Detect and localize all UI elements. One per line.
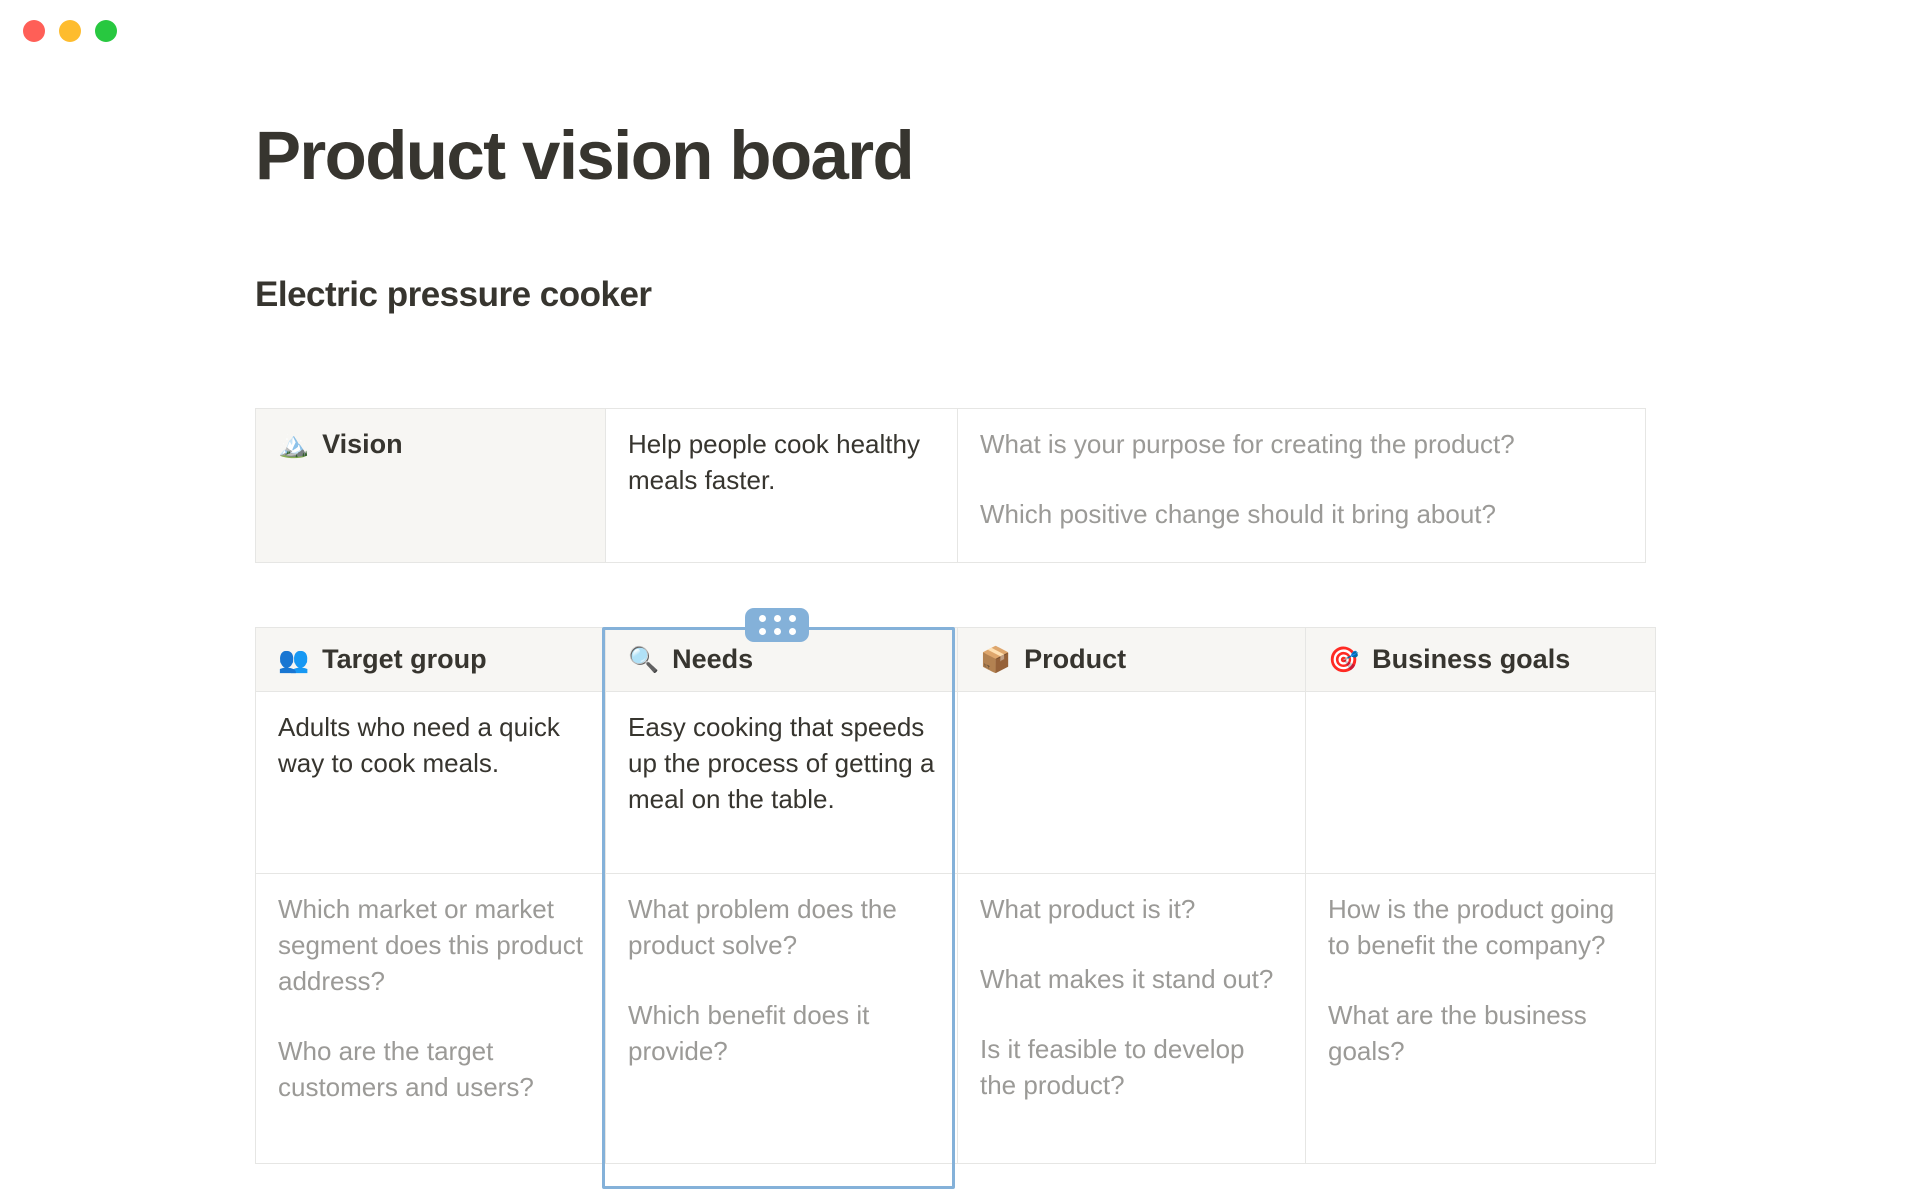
hint-line: What product is it? xyxy=(980,892,1283,928)
drag-dot xyxy=(789,615,796,622)
drag-dot xyxy=(759,615,766,622)
cell-needs-content[interactable]: Easy cooking that speeds up the process … xyxy=(606,692,958,874)
cell-needs-hints[interactable]: What problem does the product solve? Whi… xyxy=(606,874,958,1164)
vision-hint-cell[interactable]: What is your purpose for creating the pr… xyxy=(958,409,1646,563)
drag-dot xyxy=(759,628,766,635)
drag-dot xyxy=(789,628,796,635)
minimize-window-button[interactable] xyxy=(59,20,81,42)
cell-text: Adults who need a quick way to cook meal… xyxy=(278,710,583,782)
hint-line: What makes it stand out? xyxy=(980,962,1283,998)
vision-table[interactable]: 🏔️ Vision Help people cook healthy meals… xyxy=(255,408,1646,563)
product-vision-board-table[interactable]: 👥 Target group 🔍 Needs 📦 Product xyxy=(255,627,1656,1164)
column-header-target-group[interactable]: 👥 Target group xyxy=(256,628,606,692)
vision-label-cell[interactable]: 🏔️ Vision xyxy=(256,409,606,563)
cell-hint-text: Which market or market segment does this… xyxy=(278,892,583,1105)
table-row: Which market or market segment does this… xyxy=(256,874,1656,1164)
hint-line: How is the product going to benefit the … xyxy=(1328,892,1633,964)
busts-in-silhouette-icon: 👥 xyxy=(278,647,309,672)
drag-dot xyxy=(774,628,781,635)
hint-line: Who are the target customers and users? xyxy=(278,1034,583,1106)
drag-dots-icon xyxy=(759,615,796,635)
cell-text: Easy cooking that speeds up the process … xyxy=(628,710,935,818)
direct-hit-target-icon: 🎯 xyxy=(1328,647,1359,672)
section-subtitle[interactable]: Electric pressure cooker xyxy=(255,274,652,316)
table-row: Adults who need a quick way to cook meal… xyxy=(256,692,1656,874)
column-drag-handle[interactable] xyxy=(745,608,809,642)
package-icon: 📦 xyxy=(980,647,1011,672)
column-header-label: Business goals xyxy=(1372,642,1570,677)
hint-line: Which benefit does it provide? xyxy=(628,998,935,1070)
cell-business-goals-content[interactable] xyxy=(1306,692,1656,874)
snow-capped-mountain-icon: 🏔️ xyxy=(278,432,309,457)
zoom-window-button[interactable] xyxy=(95,20,117,42)
column-header-label: Needs xyxy=(672,642,753,677)
cell-hint-text: What product is it? What makes it stand … xyxy=(980,892,1283,1104)
column-header-business-goals[interactable]: 🎯 Business goals xyxy=(1306,628,1656,692)
traffic-lights xyxy=(23,20,117,42)
hint-line: Which market or market segment does this… xyxy=(278,892,583,1000)
table-row: 🏔️ Vision Help people cook healthy meals… xyxy=(256,409,1646,563)
column-header-label: Product xyxy=(1024,642,1126,677)
vision-value-cell[interactable]: Help people cook healthy meals faster. xyxy=(606,409,958,563)
column-header-label: Target group xyxy=(322,642,487,677)
vision-hint-text: What is your purpose for creating the pr… xyxy=(980,427,1623,533)
vision-hint-line: What is your purpose for creating the pr… xyxy=(980,427,1623,463)
vision-label: 🏔️ Vision xyxy=(278,427,583,462)
table-header-row: 👥 Target group 🔍 Needs 📦 Product xyxy=(256,628,1656,692)
window-titlebar xyxy=(0,0,1920,62)
column-header-product[interactable]: 📦 Product xyxy=(958,628,1306,692)
cell-business-goals-hints[interactable]: How is the product going to benefit the … xyxy=(1306,874,1656,1164)
hint-line: What problem does the product solve? xyxy=(628,892,935,964)
vision-label-text: Vision xyxy=(322,427,403,462)
cell-hint-text: What problem does the product solve? Whi… xyxy=(628,892,935,1070)
cell-product-hints[interactable]: What product is it? What makes it stand … xyxy=(958,874,1306,1164)
magnifying-glass-icon: 🔍 xyxy=(628,647,659,672)
cell-product-content[interactable] xyxy=(958,692,1306,874)
cell-target-group-content[interactable]: Adults who need a quick way to cook meal… xyxy=(256,692,606,874)
page-title[interactable]: Product vision board xyxy=(255,120,913,192)
vision-value-text: Help people cook healthy meals faster. xyxy=(628,427,935,499)
cell-target-group-hints[interactable]: Which market or market segment does this… xyxy=(256,874,606,1164)
drag-dot xyxy=(774,615,781,622)
cell-hint-text: How is the product going to benefit the … xyxy=(1328,892,1633,1070)
vision-hint-line: Which positive change should it bring ab… xyxy=(980,497,1623,533)
hint-line: Is it feasible to develop the product? xyxy=(980,1032,1283,1104)
close-window-button[interactable] xyxy=(23,20,45,42)
document-canvas: Product vision board Electric pressure c… xyxy=(0,62,1920,1200)
hint-line: What are the business goals? xyxy=(1328,998,1633,1070)
